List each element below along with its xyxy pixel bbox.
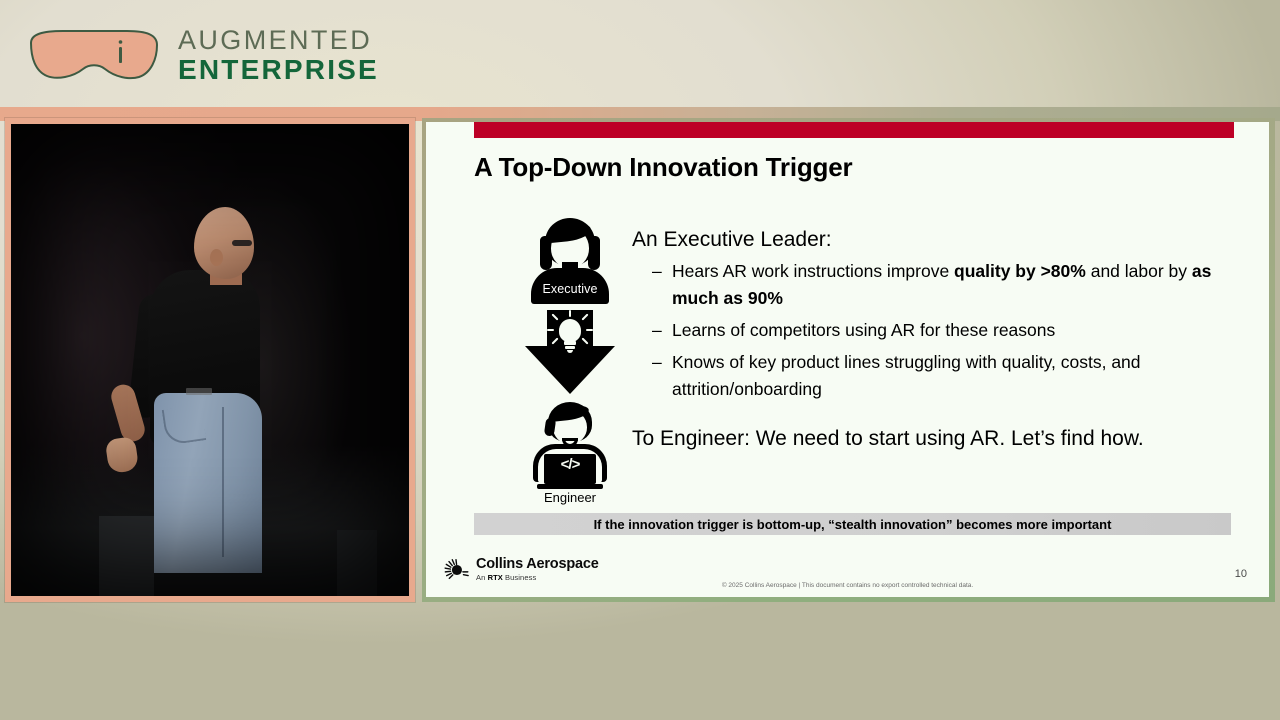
bullet-text-emphasis: quality by >80% [954, 261, 1086, 281]
bullet-item: –Knows of key product lines struggling w… [632, 349, 1252, 403]
tagline-pre: An [476, 573, 488, 582]
collins-logo-name: Collins Aerospace [476, 557, 599, 572]
slide-callout-text: If the innovation trigger is bottom-up, … [594, 517, 1112, 532]
arrow-head [525, 346, 615, 394]
video-vignette [11, 124, 409, 596]
speaker-video-panel[interactable] [5, 118, 415, 602]
executive-heading: An Executive Leader: [632, 228, 1252, 252]
lightbulb-glass [559, 319, 581, 342]
event-logo: AUGMENTED ENTERPRISE [18, 20, 418, 98]
bullet-text: and labor by [1086, 261, 1192, 281]
bullet-text: Hears AR work instructions improve [672, 261, 954, 281]
lightbulb-base-1 [564, 341, 576, 345]
collins-logo-text: Collins Aerospace An RTX Business [476, 557, 599, 583]
bullet-dash: – [652, 317, 662, 344]
slide-panel[interactable]: A Top-Down Innovation Trigger Executive [422, 118, 1275, 602]
bullet-item: –Learns of competitors using AR for thes… [632, 317, 1252, 344]
engineer-laptop-base [537, 484, 603, 489]
engineer-code-glyph: </> [544, 456, 596, 473]
to-engineer-line: To Engineer: We need to start using AR. … [632, 427, 1144, 451]
lightbulb-ray-left [547, 329, 554, 331]
slide-content: A Top-Down Innovation Trigger Executive [426, 122, 1269, 597]
ar-goggles-icon [23, 29, 163, 84]
bullet-item: –Hears AR work instructions improve qual… [632, 258, 1252, 312]
icon-column: Executive [518, 218, 622, 494]
event-logo-text: AUGMENTED ENTERPRISE [178, 25, 379, 85]
down-arrow-lightbulb-icon [525, 310, 615, 394]
collins-sunburst-icon [442, 556, 470, 584]
engineer-label: Engineer [527, 490, 613, 505]
slide-body: An Executive Leader: –Hears AR work inst… [632, 228, 1252, 408]
event-logo-line1: AUGMENTED [178, 25, 379, 55]
slide-page-number: 10 [1235, 568, 1247, 580]
lightbulb-ray-top [569, 310, 571, 317]
slide-accent-bar [474, 122, 1234, 138]
lightbulb-base-2 [565, 346, 575, 349]
speaker-video[interactable] [11, 124, 409, 596]
tagline-post: Business [503, 573, 536, 582]
engineer-person-icon: </> Engineer [527, 402, 613, 494]
executive-person-icon: Executive [527, 218, 613, 302]
collins-aerospace-logo: Collins Aerospace An RTX Business [442, 556, 599, 584]
bullet-dash: – [652, 349, 662, 376]
tagline-brand: RTX [488, 573, 503, 582]
bullet-text: Knows of key product lines struggling wi… [672, 352, 1141, 399]
bullet-dash: – [652, 258, 662, 285]
executive-bullet-list: –Hears AR work instructions improve qual… [632, 258, 1252, 403]
slide-title: A Top-Down Innovation Trigger [474, 152, 852, 183]
executive-label: Executive [527, 282, 613, 296]
lightbulb-ray-right [586, 329, 593, 331]
bullet-text: Learns of competitors using AR for these… [672, 320, 1055, 340]
slide-callout-bar: If the innovation trigger is bottom-up, … [474, 513, 1231, 535]
slide-copyright: © 2025 Collins Aerospace | This document… [426, 582, 1269, 589]
presentation-stage: AUGMENTED ENTERPRISE [0, 0, 1280, 720]
event-logo-line2: ENTERPRISE [178, 55, 379, 85]
